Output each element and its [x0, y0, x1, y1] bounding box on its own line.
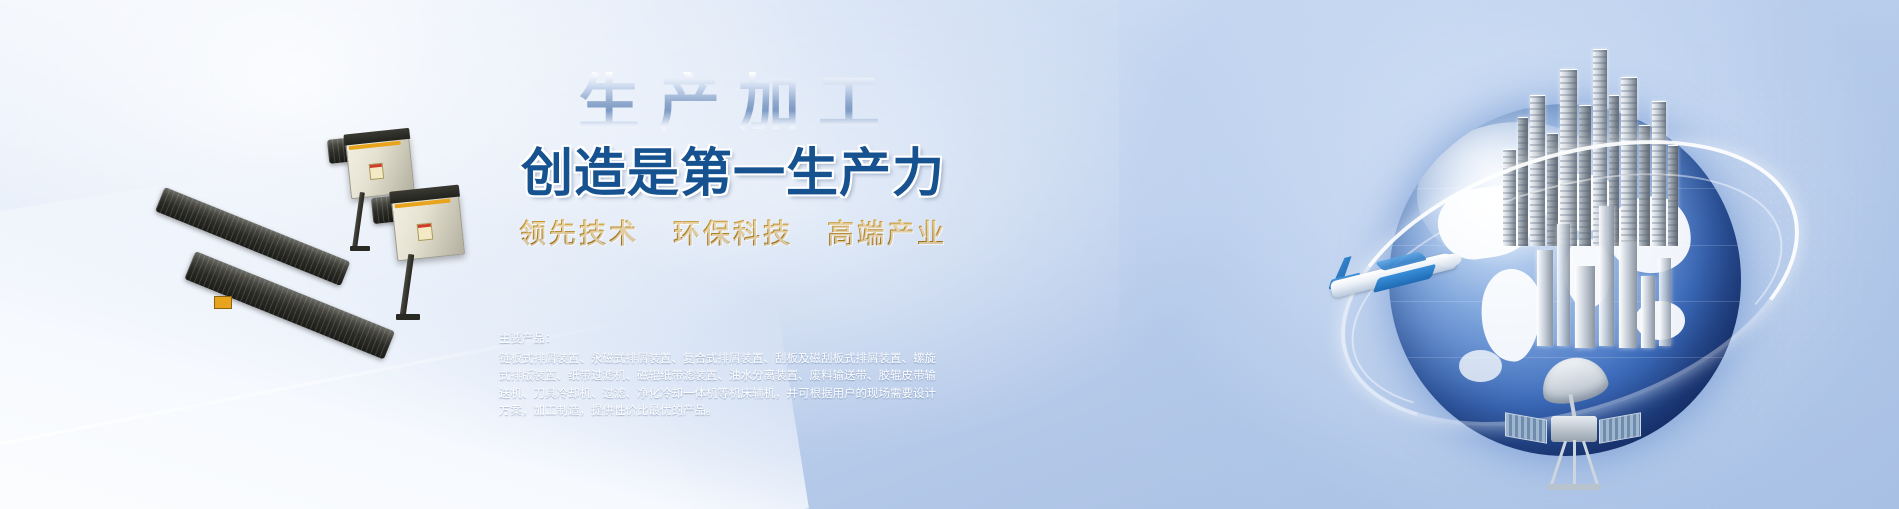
promo-banner: 生产加工 创造是第一生产力 领先技术 环保科技 高端产业 主要产品： 链板式排屑… [0, 0, 1899, 509]
warning-label-bar [370, 164, 382, 168]
subtitle-item-1: 领先技术 [519, 212, 639, 251]
banner-subtitles: 领先技术 环保科技 高端产业 [498, 212, 968, 251]
product-description: 主要产品： 链板式排屑装置、永磁式排屑装置、复合式排屑装置、刮板及磁刮板式排屑装… [499, 330, 939, 420]
tower-shape [1537, 250, 1553, 346]
support-foot [396, 314, 420, 320]
banner-title: 生产加工 [508, 72, 968, 134]
skyscraper [1503, 149, 1516, 246]
globe-scene [1351, 36, 1781, 506]
banner-headline: 创造是第一生产力 [498, 148, 968, 200]
satellite-body [1551, 416, 1597, 442]
satellite-solar-panel-left [1505, 412, 1547, 443]
chip-conveyor-machines [160, 130, 490, 330]
conveyor-belt [155, 187, 350, 286]
belt-texture [155, 187, 350, 286]
satellite-leg [1573, 440, 1576, 486]
satellite-leg [1582, 441, 1599, 486]
tower-shape [1659, 258, 1671, 346]
satellite-base [1547, 484, 1601, 490]
support-foot [350, 246, 370, 251]
headline-block: 生产加工 创造是第一生产力 领先技术 环保科技 高端产业 [498, 72, 968, 251]
product-description-label: 主要产品： [499, 330, 939, 348]
skyscraper [1518, 117, 1528, 246]
conveyor-head-housing [391, 193, 465, 262]
satellite-leg [1550, 441, 1567, 486]
tower-shape [1599, 206, 1614, 346]
warning-label-bar [418, 224, 431, 228]
support-leg [400, 254, 415, 316]
tower-shape [1557, 224, 1570, 346]
satellite-solar-panel-right [1599, 412, 1641, 443]
satellite-dish [1537, 352, 1611, 409]
tower-shape [1575, 266, 1595, 348]
continent-shape [1459, 350, 1501, 382]
support-leg [352, 192, 365, 248]
tower-shape [1641, 276, 1655, 348]
subtitle-item-2: 环保科技 [673, 212, 793, 251]
subtitle-item-3: 高端产业 [827, 212, 947, 251]
product-description-body: 链板式排屑装置、永磁式排屑装置、复合式排屑装置、刮板及磁刮板式排屑装置、螺旋式排… [499, 350, 939, 420]
satellite-icon [1497, 358, 1647, 498]
building-cluster [1531, 206, 1691, 356]
warning-label [417, 223, 434, 241]
outlet-marker [214, 296, 232, 309]
warning-label [369, 163, 385, 180]
tower-shape [1619, 242, 1637, 348]
